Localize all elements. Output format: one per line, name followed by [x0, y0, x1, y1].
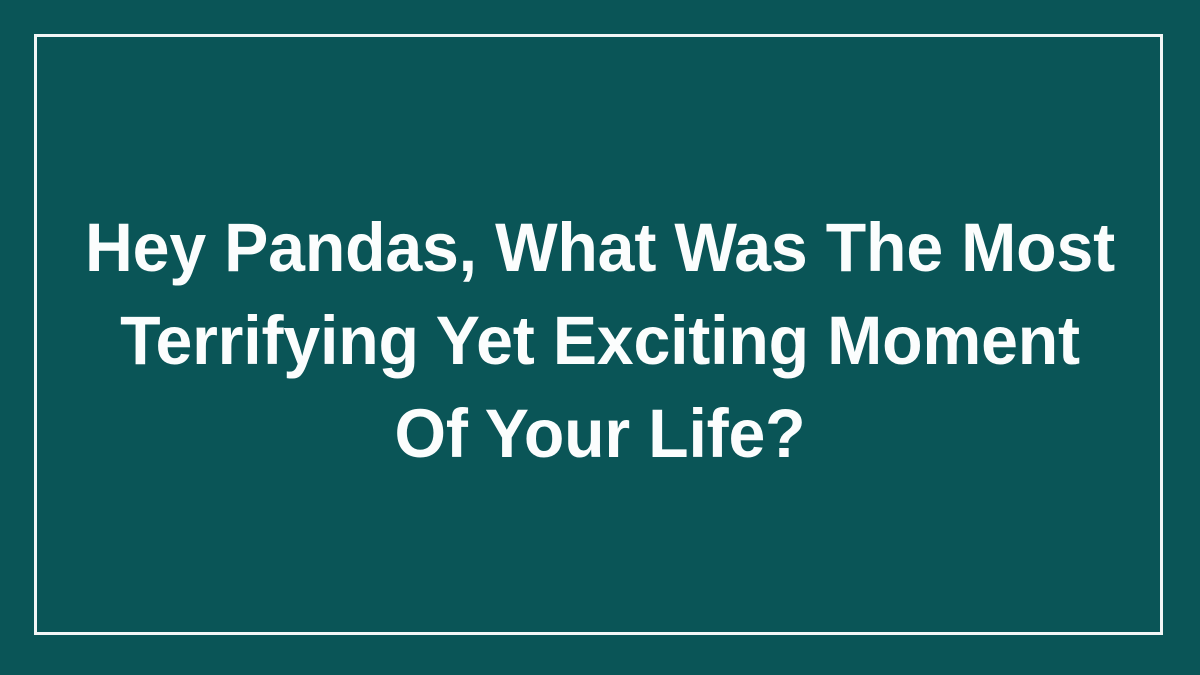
title-line-2: Terrifying Yet Exciting Moment	[24, 294, 1176, 387]
title-line-3: Of Your Life?	[24, 387, 1176, 480]
title-card: Hey Pandas, What Was The Most Terrifying…	[0, 0, 1200, 675]
page-title: Hey Pandas, What Was The Most Terrifying…	[0, 0, 1200, 675]
title-line-1: Hey Pandas, What Was The Most	[24, 201, 1176, 294]
